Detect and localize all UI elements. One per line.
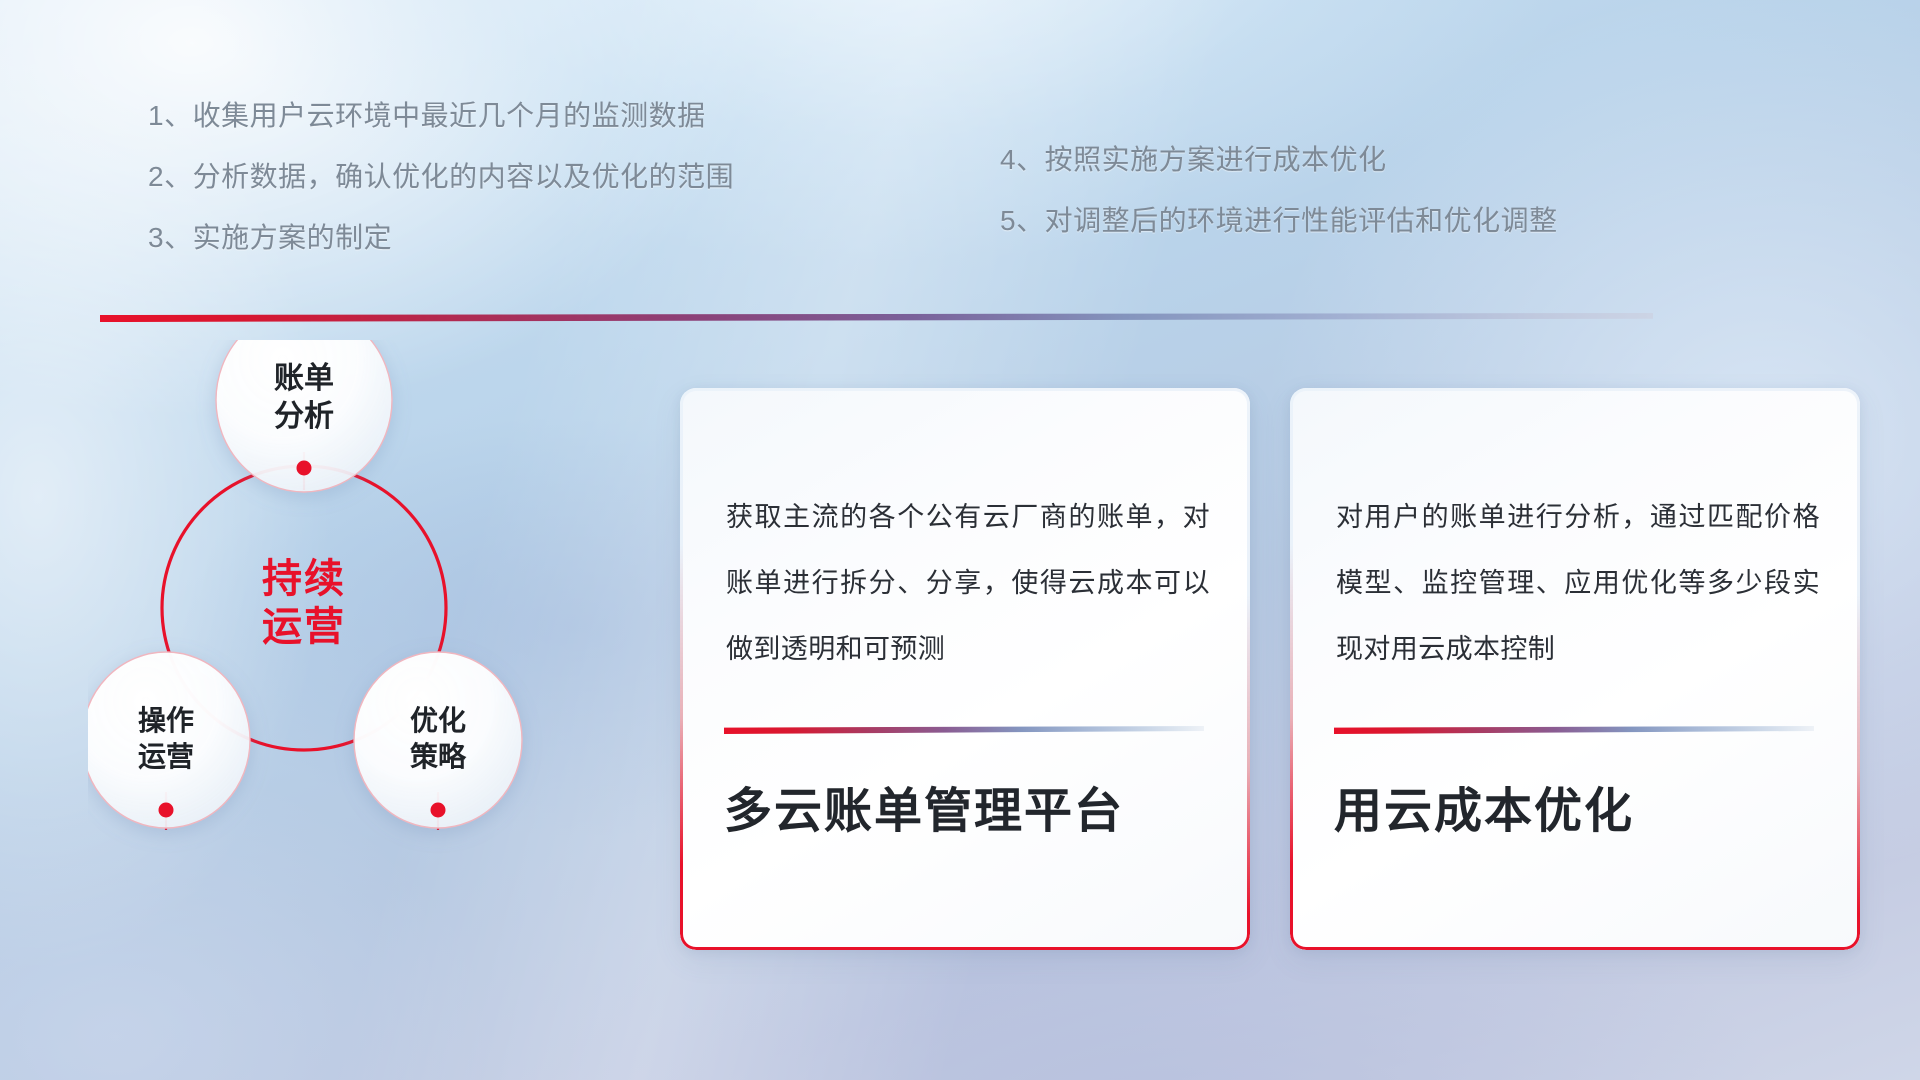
feature-card-divider bbox=[724, 726, 1204, 734]
continuous-operation-diagram: 账单 分析 操作 运营 优化 策略 持续 运营 bbox=[88, 340, 648, 960]
bubble-label-bottom-left-line1: 操作 bbox=[138, 705, 194, 736]
feature-card-multicloud-billing[interactable]: 获取主流的各个公有云厂商的账单，对账单进行拆分、分享，使得云成本可以做到透明和可… bbox=[680, 388, 1250, 950]
feature-card-divider-bar bbox=[1334, 726, 1814, 734]
feature-card-title: 用云成本优化 bbox=[1334, 783, 1634, 841]
section-divider bbox=[100, 313, 1653, 322]
feature-card-divider bbox=[1334, 726, 1814, 734]
center-label-line2: 运营 bbox=[262, 605, 346, 649]
feature-card-body: 获取主流的各个公有云厂商的账单，对账单进行拆分、分享，使得云成本可以做到透明和可… bbox=[726, 484, 1210, 682]
process-steps-list: 1、收集用户云环境中最近几个月的监测数据 2、分析数据，确认优化的内容以及优化的… bbox=[0, 102, 1920, 282]
bubble-label-bottom-right-line1: 优化 bbox=[410, 705, 466, 736]
process-step-4: 4、按照实施方案进行成本优化 bbox=[1000, 146, 1558, 174]
anchor-dot-bottom-right bbox=[431, 803, 446, 818]
bubble-optimization-strategy bbox=[354, 652, 522, 828]
anchor-dot-bottom-left bbox=[159, 803, 174, 818]
process-steps-left-column: 1、收集用户云环境中最近几个月的监测数据 2、分析数据，确认优化的内容以及优化的… bbox=[148, 102, 734, 285]
process-step-3: 3、实施方案的制定 bbox=[148, 224, 734, 252]
process-step-5: 5、对调整后的环境进行性能评估和优化调整 bbox=[1000, 207, 1558, 235]
section-divider-bar bbox=[100, 313, 1653, 322]
bubble-operation bbox=[88, 652, 250, 828]
bubble-label-top-line2: 分析 bbox=[274, 400, 334, 433]
feature-card-body: 对用户的账单进行分析，通过匹配价格模型、监控管理、应用优化等多少段实现对用云成本… bbox=[1336, 484, 1820, 682]
bubble-label-top-line1: 账单 bbox=[274, 362, 334, 395]
process-step-1: 1、收集用户云环境中最近几个月的监测数据 bbox=[148, 102, 734, 130]
process-step-2: 2、分析数据，确认优化的内容以及优化的范围 bbox=[148, 163, 734, 191]
feature-card-title: 多云账单管理平台 bbox=[724, 783, 1124, 841]
center-label-line1: 持续 bbox=[262, 557, 346, 601]
bubble-label-bottom-left-line2: 运营 bbox=[138, 741, 194, 772]
feature-card-cloud-cost-optimization[interactable]: 对用户的账单进行分析，通过匹配价格模型、监控管理、应用优化等多少段实现对用云成本… bbox=[1290, 388, 1860, 950]
feature-card-divider-bar bbox=[724, 726, 1204, 734]
bubble-label-bottom-right-line2: 策略 bbox=[410, 740, 467, 772]
process-steps-right-column: 4、按照实施方案进行成本优化 5、对调整后的环境进行性能评估和优化调整 bbox=[1000, 146, 1558, 268]
anchor-dot-top bbox=[297, 461, 312, 476]
